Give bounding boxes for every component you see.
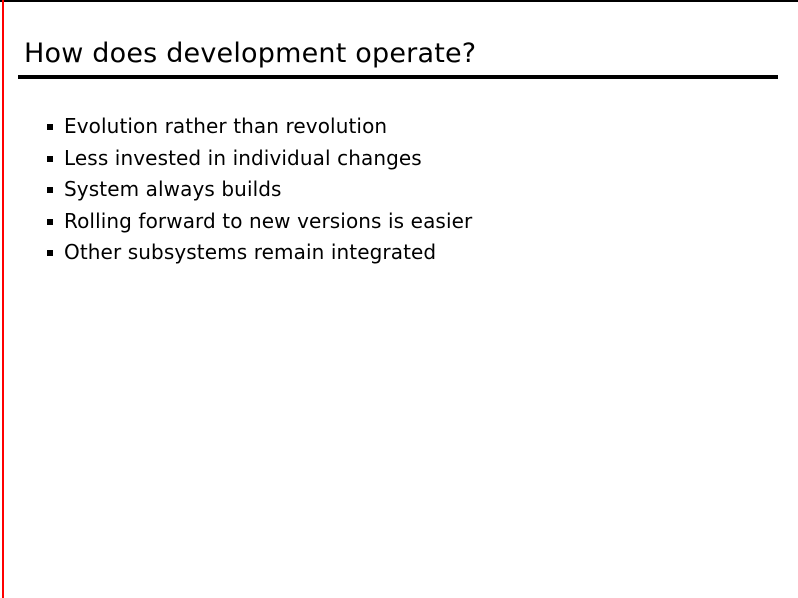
list-item: Other subsystems remain integrated: [46, 238, 766, 270]
title-underline-rule: [18, 75, 778, 79]
list-item-label: Other subsystems remain integrated: [64, 238, 436, 266]
list-item-label: Less invested in individual changes: [64, 144, 422, 172]
list-item-label: Evolution rather than revolution: [64, 112, 387, 140]
square-bullet-icon: [47, 250, 53, 256]
square-bullet-icon: [47, 187, 53, 193]
list-item-label: System always builds: [64, 175, 282, 203]
page-title: How does development operate?: [24, 38, 476, 70]
square-bullet-icon: [47, 124, 53, 130]
presentation-slide: How does development operate? Evolution …: [0, 0, 798, 598]
list-item: System always builds: [46, 175, 766, 207]
slide-left-accent-bar: [2, 0, 4, 598]
slide-top-border: [0, 0, 798, 2]
square-bullet-icon: [47, 219, 53, 225]
list-item: Rolling forward to new versions is easie…: [46, 207, 766, 239]
list-item: Less invested in individual changes: [46, 144, 766, 176]
bullet-list: Evolution rather than revolution Less in…: [46, 112, 766, 270]
square-bullet-icon: [47, 156, 53, 162]
list-item-label: Rolling forward to new versions is easie…: [64, 207, 472, 235]
list-item: Evolution rather than revolution: [46, 112, 766, 144]
